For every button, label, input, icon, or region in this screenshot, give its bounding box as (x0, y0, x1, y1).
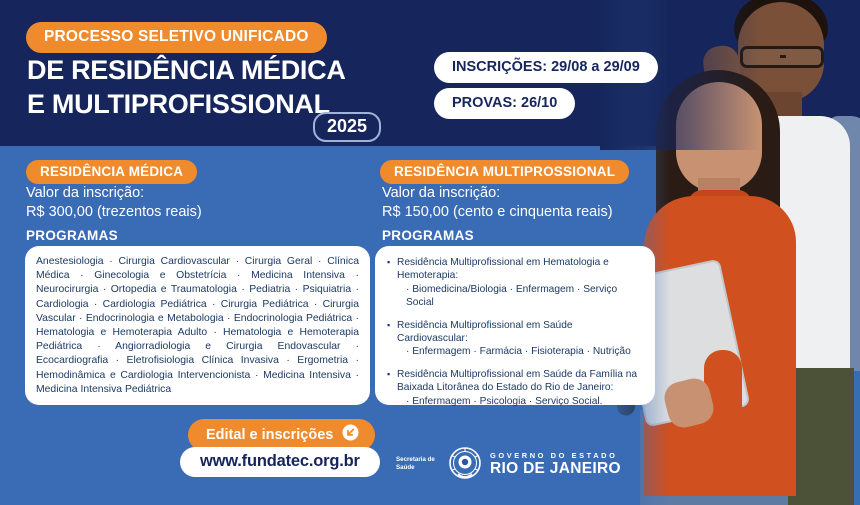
rio-de-janeiro-coat-of-arms-icon (447, 446, 483, 482)
list-item-sub: · Enfermagem · Farmácia · Fisioterapia ·… (397, 345, 645, 358)
medica-price-value: R$ 300,00 (trezentos reais) (26, 203, 202, 222)
multiprofissional-programs-list: ▪ Residência Multiprofissional em Hemato… (375, 246, 655, 408)
medica-price-label: Valor da inscrição: (26, 184, 202, 203)
multiprofissional-price-label: Valor da inscrição: (382, 184, 613, 203)
secretaria-line-2: Saúde (396, 464, 440, 472)
square-bullet-icon: ▪ (387, 368, 397, 408)
edital-inscricoes-label: Edital e inscrições (206, 427, 333, 443)
promotional-banner: PROCESSO SELETIVO UNIFICADO DE RESIDÊNCI… (0, 0, 860, 505)
list-item-title: Residência Multiprofissional em Hematolo… (397, 257, 609, 281)
list-item: ▪ Residência Multiprofissional em Hemato… (387, 256, 645, 310)
multiprofissional-price-value: R$ 150,00 (cento e cinquenta reais) (382, 203, 613, 222)
secretaria-line-1: Secretaria de (396, 456, 440, 464)
year-badge: 2025 (313, 112, 381, 142)
inscriptions-date-pill: INSCRIÇÕES: 29/08 a 29/09 (434, 52, 658, 83)
square-bullet-icon: ▪ (387, 256, 397, 310)
list-item-body: Residência Multiprofissional em Saúde da… (397, 368, 645, 408)
multiprofissional-column-pill: RESIDÊNCIA MULTIPROSSIONAL (380, 160, 629, 184)
secretaria-saude-label: Secretaria de Saúde (396, 456, 440, 471)
title-line-1: DE RESIDÊNCIA MÉDICA (27, 53, 346, 87)
list-item-title: Residência Multiprofissional em Saúde da… (397, 369, 637, 393)
list-item: ▪ Residência Multiprofissional em Saúde … (387, 319, 645, 359)
list-item-title: Residência Multiprofissional em Saúde Ca… (397, 320, 573, 344)
list-item-body: Residência Multiprofissional em Hematolo… (397, 256, 645, 310)
multiprofissional-price: Valor da inscrição: R$ 150,00 (cento e c… (382, 184, 613, 222)
government-line-1: GOVERNO DO ESTADO (490, 451, 621, 460)
medica-column-pill: RESIDÊNCIA MÉDICA (26, 160, 197, 184)
square-bullet-icon: ▪ (387, 319, 397, 359)
multiprofissional-programs-card: ▪ Residência Multiprofissional em Hemato… (375, 246, 655, 405)
list-item-body: Residência Multiprofissional em Saúde Ca… (397, 319, 645, 359)
list-item: ▪ Residência Multiprofissional em Saúde … (387, 368, 645, 408)
download-arrow-circle-icon (342, 424, 359, 445)
exams-date-pill: PROVAS: 26/10 (434, 88, 575, 119)
list-item-sub: · Biomedicina/Biologia · Enfermagem · Se… (397, 283, 645, 310)
page-title: DE RESIDÊNCIA MÉDICA E MULTIPROFISSIONAL (27, 53, 346, 121)
process-badge: PROCESSO SELETIVO UNIFICADO (26, 22, 327, 53)
government-wordmark: GOVERNO DO ESTADO RIO DE JANEIRO (490, 451, 621, 477)
government-logo: Secretaria de Saúde GOVERNO DO ESTAD (396, 446, 621, 482)
medica-programs-heading: PROGRAMAS (26, 228, 118, 243)
government-line-2: RIO DE JANEIRO (490, 460, 621, 477)
medica-programs-list: Anestesiologia · Cirurgia Cardiovascular… (25, 246, 370, 397)
medica-programs-card: Anestesiologia · Cirurgia Cardiovascular… (25, 246, 370, 405)
website-url[interactable]: www.fundatec.org.br (180, 447, 380, 477)
list-item-sub: · Enfermagem · Psicologia · Serviço Soci… (397, 395, 645, 408)
medica-price: Valor da inscrição: R$ 300,00 (trezentos… (26, 184, 202, 222)
multiprofissional-programs-heading: PROGRAMAS (382, 228, 474, 243)
title-line-2: E MULTIPROFISSIONAL (27, 87, 346, 121)
